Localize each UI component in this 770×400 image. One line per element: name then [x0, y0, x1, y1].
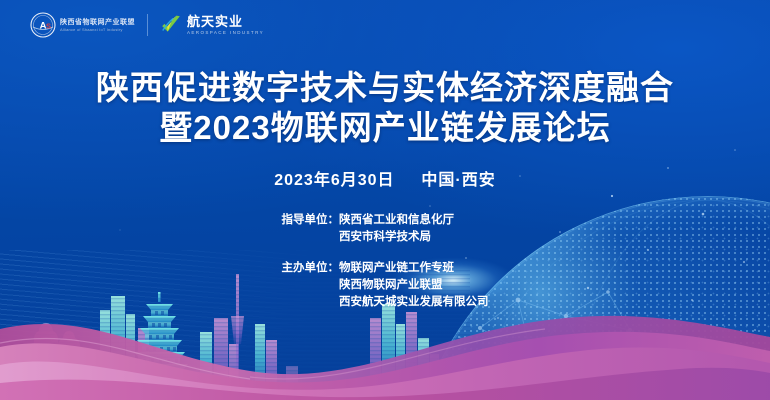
host-unit-item: 物联网产业链工作专班: [339, 260, 489, 277]
event-location: 中国·西安: [421, 172, 495, 189]
organizer-row: 指导单位： 陕西省工业和信息化厅 西安市科学技术局: [282, 212, 489, 246]
host-unit-item: 陕西物联网产业联盟: [339, 277, 489, 294]
forum-banner: A S 陕西省物联网产业联盟 Alliance of Shaanxi IoT I…: [0, 0, 770, 400]
organizer-row: 主办单位： 物联网产业链工作专班 陕西物联网产业联盟 西安航天城实业发展有限公司: [282, 260, 489, 311]
host-unit-label: 主办单位：: [282, 260, 340, 277]
guidance-unit-values: 陕西省工业和信息化厅 西安市科学技术局: [339, 212, 454, 246]
host-unit-values: 物联网产业链工作专班 陕西物联网产业联盟 西安航天城实业发展有限公司: [339, 260, 489, 311]
guidance-unit-item: 陕西省工业和信息化厅: [339, 212, 454, 229]
organizer-block: 指导单位： 陕西省工业和信息化厅 西安市科学技术局 主办单位： 物联网产业链工作…: [282, 212, 489, 325]
event-date-location: 2023年6月30日 中国·西安: [0, 166, 770, 190]
forum-title: 陕西促进数字技术与实体经济深度融合 暨2023物联网产业链发展论坛: [0, 68, 770, 148]
host-unit-item: 西安航天城实业发展有限公司: [339, 294, 489, 311]
main-content: 陕西促进数字技术与实体经济深度融合 暨2023物联网产业链发展论坛 2023年6…: [0, 0, 770, 325]
guidance-unit-item: 西安市科学技术局: [339, 229, 454, 246]
event-date: 2023年6月30日: [274, 172, 394, 189]
forum-title-line-1: 陕西促进数字技术与实体经济深度融合: [0, 68, 770, 108]
guidance-unit-label: 指导单位：: [282, 212, 340, 229]
forum-title-line-2: 暨2023物联网产业链发展论坛: [0, 108, 770, 148]
